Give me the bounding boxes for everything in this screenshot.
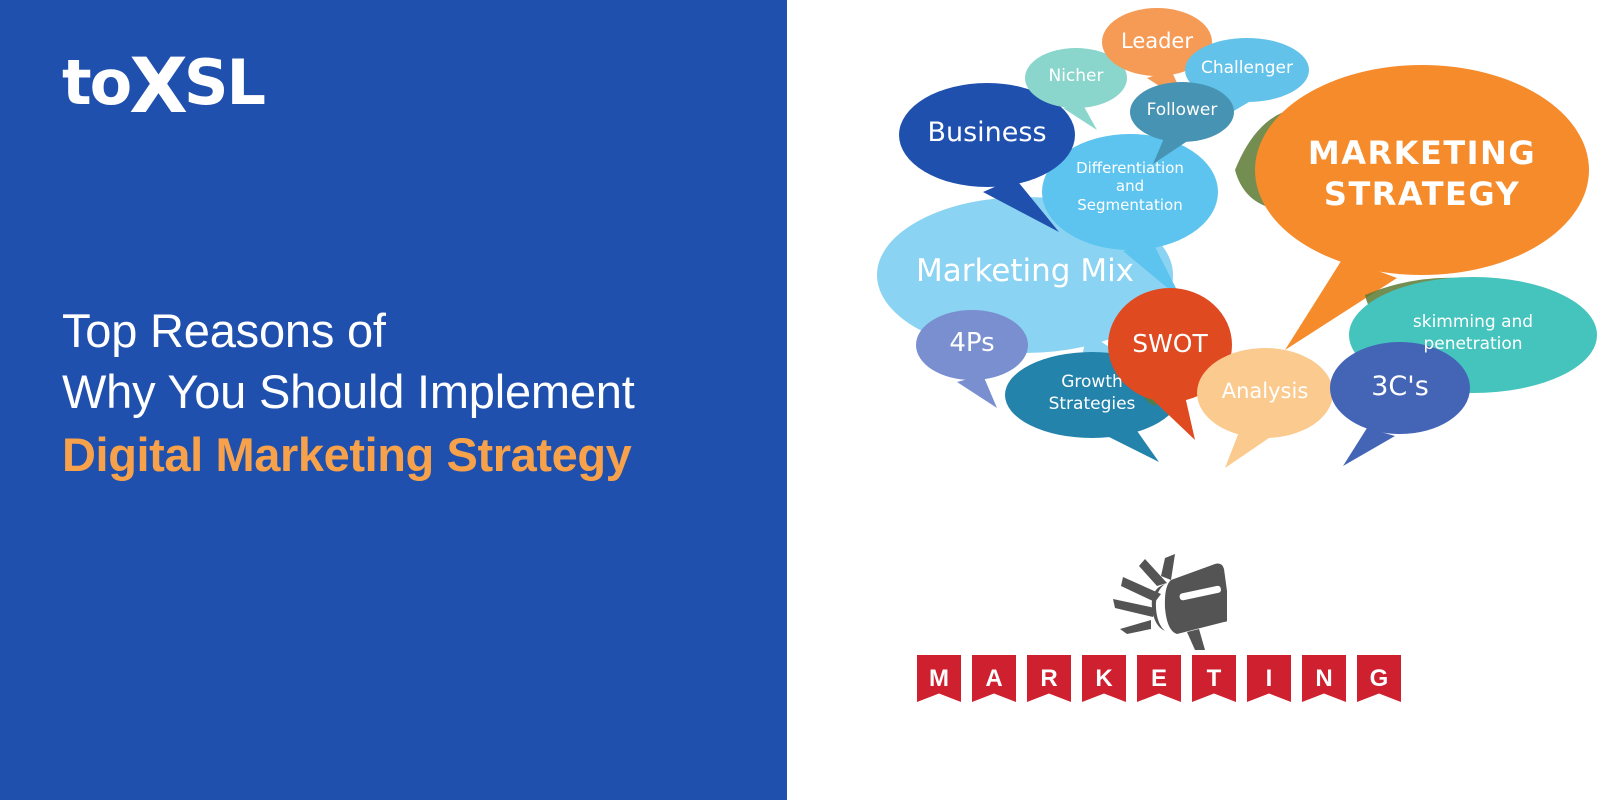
logo-suffix: SL	[184, 46, 264, 119]
artwork-panel: Leader Nicher Challenger Follower Busine…	[787, 0, 1600, 800]
bubble-shapes-svg	[787, 0, 1600, 570]
marketing-pennant-row: M A R K E T I N G	[917, 655, 1401, 702]
logo-wordmark: toXSL	[62, 48, 264, 114]
pennant-letter-r: R	[1027, 655, 1071, 702]
pennant-letter-t: T	[1192, 655, 1236, 702]
left-blue-panel: toXSL Top Reasons of Why You Should Impl…	[0, 0, 787, 800]
headline-line-2: Why You Should Implement	[62, 361, 762, 422]
headline-block: Top Reasons of Why You Should Implement …	[62, 300, 762, 485]
toxsl-logo[interactable]: toXSL	[62, 52, 264, 114]
pennant-letter-i: I	[1247, 655, 1291, 702]
bubble-analysis[interactable]	[1197, 348, 1333, 468]
pennant-letter-n: N	[1302, 655, 1346, 702]
logo-prefix: to	[62, 46, 130, 119]
speech-bubble-cloud: Leader Nicher Challenger Follower Busine…	[787, 0, 1600, 800]
logo-x-icon: X	[129, 56, 186, 115]
bubble-3cs[interactable]	[1330, 342, 1470, 466]
headline-line-1: Top Reasons of	[62, 300, 762, 361]
pennant-letter-g: G	[1357, 655, 1401, 702]
headline-line-3-accent: Digital Marketing Strategy	[62, 424, 762, 485]
pennant-letter-a: A	[972, 655, 1016, 702]
pennant-letter-e: E	[1137, 655, 1181, 702]
pennant-letter-k: K	[1082, 655, 1126, 702]
pennant-letter-m: M	[917, 655, 961, 702]
promo-banner: toXSL Top Reasons of Why You Should Impl…	[0, 0, 1600, 800]
megaphone-icon	[1087, 550, 1227, 650]
